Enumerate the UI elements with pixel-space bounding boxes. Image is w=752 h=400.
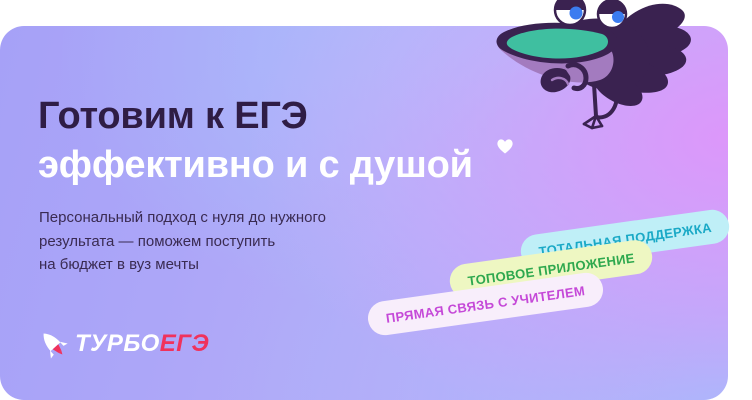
logo-text-primary: ТУРБО — [75, 330, 160, 357]
subtitle: Персональный подход с нуля до нужного ре… — [39, 206, 439, 277]
promo-banner: Готовим к ЕГЭ эффективно и с душой Персо… — [0, 0, 752, 400]
rocket-icon — [38, 329, 68, 359]
logo-wordmark: ТУРБОЕГЭ — [75, 332, 209, 356]
heart-icon — [495, 136, 515, 156]
bird-eye-left — [555, 0, 585, 25]
subtitle-line-3: на бюджет в вуз мечты — [39, 253, 439, 277]
bird-eye-right — [598, 0, 626, 28]
bird-mascot-icon — [496, 0, 720, 132]
brand-logo[interactable]: ТУРБОЕГЭ — [38, 329, 209, 359]
subtitle-line-1: Персональный подход с нуля до нужного — [39, 206, 439, 230]
subtitle-line-2: результата — поможем поступить — [39, 230, 439, 254]
logo-text-accent: ЕГЭ — [160, 330, 210, 357]
